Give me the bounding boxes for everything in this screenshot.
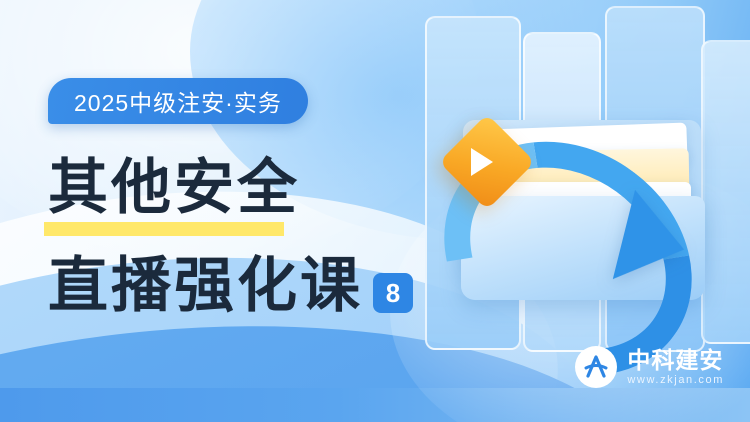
- episode-number-badge: 8: [373, 273, 413, 313]
- headline-highlight-bar: [44, 222, 284, 236]
- course-category-pill: 2025中级注安·实务: [48, 78, 308, 124]
- page-title-line-2-group: 直播强化课 8: [48, 256, 413, 316]
- page-title-line-2: 直播强化课: [48, 256, 363, 316]
- brand-text-group: 中科建安 www.zkjan.com: [627, 348, 724, 387]
- course-poster: 2025中级注安·实务 其他安全 直播强化课 8 中科建安 www.zkjan.…: [0, 0, 750, 422]
- page-title-line-1: 其他安全: [48, 158, 300, 218]
- building-panel-quaternary-icon: [701, 40, 750, 344]
- brand-name: 中科建安: [627, 348, 723, 372]
- circle-monogram-icon: [575, 346, 617, 388]
- brand-url: www.zkjan.com: [627, 375, 724, 387]
- play-triangle-icon: [471, 148, 493, 176]
- brand-logo: 中科建安 www.zkjan.com: [575, 346, 724, 388]
